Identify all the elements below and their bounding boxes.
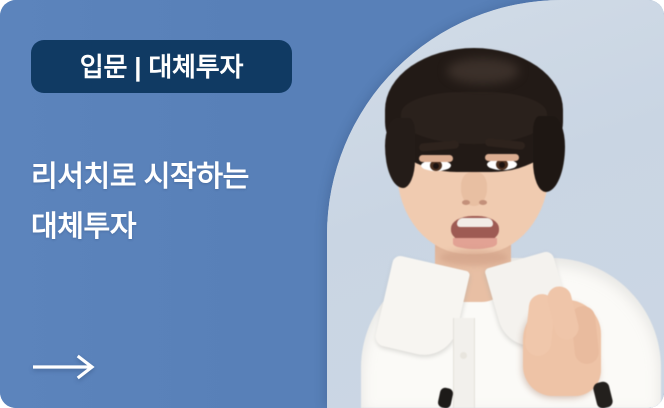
cta-arrow-button[interactable] [31, 345, 101, 389]
category-badge-label: 입문 | 대체투자 [80, 54, 243, 80]
pupil-right [499, 162, 505, 168]
category-badge: 입문 | 대체투자 [31, 40, 292, 93]
hair-fringe [401, 92, 547, 144]
teeth [457, 218, 493, 227]
eyelid-left [419, 155, 453, 162]
hair-side-left [385, 118, 415, 188]
nostril-right [479, 200, 487, 205]
shirt-placket [453, 318, 475, 408]
nostril-left [462, 200, 470, 205]
headline-line-2: 대체투자 [31, 202, 331, 252]
arrow-right-icon [31, 354, 99, 380]
chin-shadow [439, 250, 509, 266]
hair-side-right [533, 116, 565, 192]
speaker-portrait [327, 0, 664, 408]
headline-line-1: 리서치로 시작하는 [31, 152, 331, 202]
lower-lip [453, 238, 497, 249]
page-title: 리서치로 시작하는 대체투자 [31, 152, 331, 252]
speaker-photo [327, 0, 664, 408]
hair-highlight [447, 58, 519, 84]
promo-card[interactable]: 입문 | 대체투자 리서치로 시작하는 대체투자 [0, 0, 664, 408]
eyelid-right [485, 154, 519, 161]
pupil-left [433, 163, 439, 169]
shirt-button [460, 352, 467, 359]
